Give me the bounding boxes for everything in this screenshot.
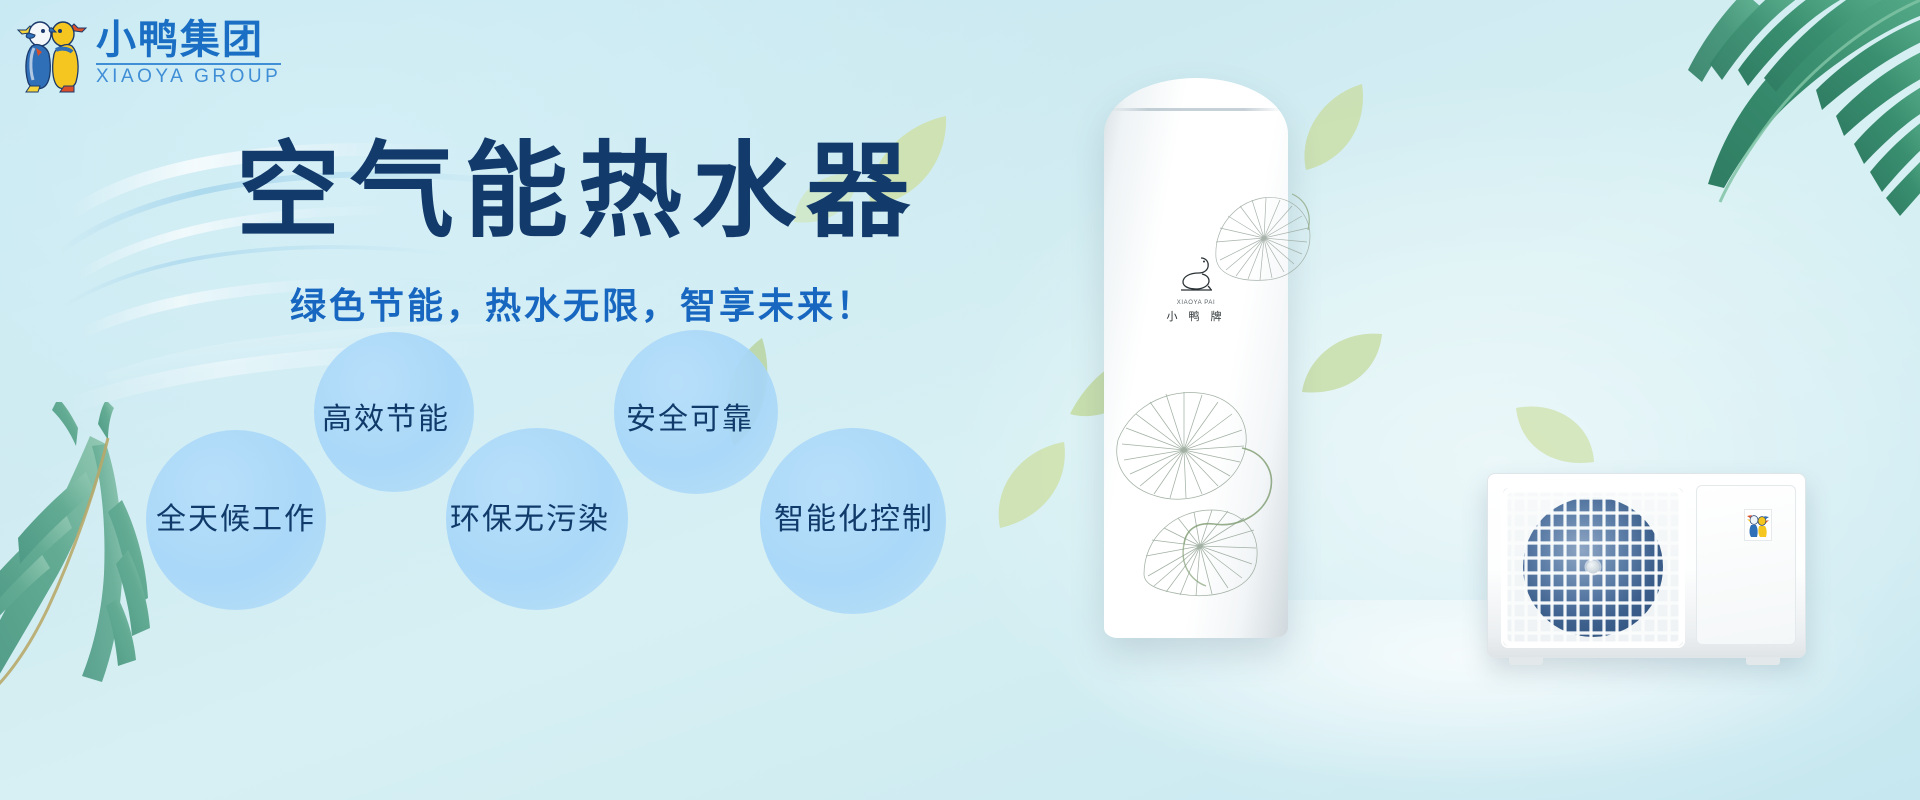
brand-name-en: XIAOYA GROUP <box>96 67 281 86</box>
unit-foot <box>1509 657 1543 665</box>
duck-mascots-icon <box>1744 509 1772 541</box>
tank-body <box>1104 78 1288 638</box>
unit-foot <box>1746 657 1780 665</box>
feature-label-2[interactable]: 全天候工作 <box>156 494 316 538</box>
sage-leaf-icon <box>1300 330 1386 400</box>
sage-leaf-icon <box>1512 400 1598 470</box>
tank-brand-cn: 小 鸭 牌 <box>1159 308 1233 324</box>
duck-mascots-icon <box>16 12 88 94</box>
brand-logo-text: 小鸭集团 XIAOYA GROUP <box>96 20 281 87</box>
page-subtitle: 绿色节能，热水无限，智享未来！ <box>290 277 875 329</box>
promo-banner: 小鸭集团 XIAOYA GROUP 空气能热水器 绿色节能，热水无限，智享未来！… <box>0 0 1920 800</box>
tank-seam <box>1110 108 1282 111</box>
sage-leaf-icon <box>1296 80 1370 176</box>
feature-label-4[interactable]: 智能化控制 <box>774 494 934 538</box>
air-source-water-tank: XIAOYA PAI 小 鸭 牌 <box>1104 78 1288 638</box>
tank-brand-mark: XIAOYA PAI 小 鸭 牌 <box>1159 254 1233 324</box>
feature-label-1[interactable]: 安全可靠 <box>626 394 754 438</box>
monstera-leaf-icon <box>1630 0 1920 216</box>
fan-hub <box>1587 561 1600 574</box>
logo-divider <box>96 63 281 65</box>
heat-pump-outdoor-unit <box>1487 473 1806 658</box>
feature-label-3[interactable]: 环保无污染 <box>450 494 610 538</box>
feature-label-0[interactable]: 高效节能 <box>322 394 450 438</box>
duck-outline-icon <box>1175 254 1217 294</box>
tank-brand-en: XIAOYA PAI <box>1159 300 1233 306</box>
page-title: 空气能热水器 <box>236 134 920 250</box>
brand-logo[interactable]: 小鸭集团 XIAOYA GROUP <box>16 10 316 96</box>
fan-grille-icon <box>1501 486 1685 648</box>
sage-leaf-icon <box>990 436 1072 532</box>
brand-name-cn: 小鸭集团 <box>96 20 281 61</box>
